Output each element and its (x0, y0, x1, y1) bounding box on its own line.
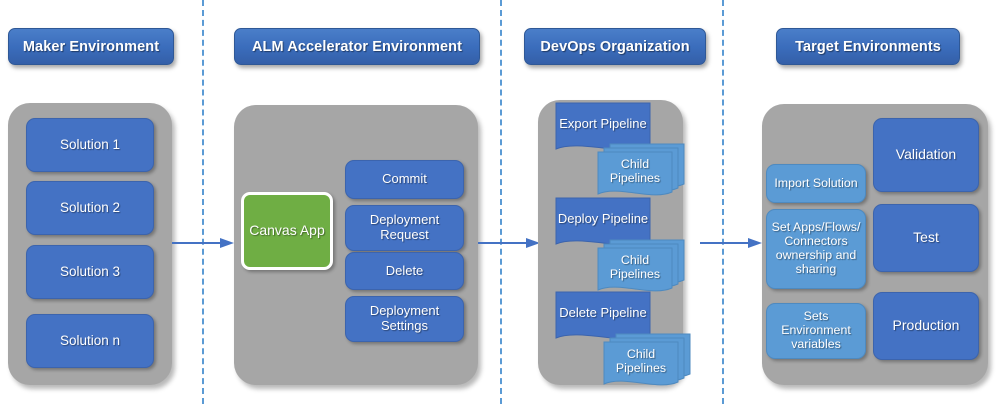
node-solution-3[interactable]: Solution 3 (26, 245, 154, 299)
column-divider-2 (500, 0, 502, 404)
node-import-solution[interactable]: Import Solution (766, 164, 866, 203)
node-canvas-app[interactable]: Canvas App (241, 192, 333, 270)
node-child-pipelines-export[interactable]: Child Pipelines (598, 144, 684, 192)
node-validation-label: Validation (896, 147, 956, 163)
node-deployment-request[interactable]: Deployment Request (345, 205, 464, 251)
node-validation[interactable]: Validation (873, 118, 979, 192)
node-solution-3-label: Solution 3 (60, 264, 120, 279)
node-solution-2-label: Solution 2 (60, 200, 120, 215)
header-alm-accelerator-environment[interactable]: ALM Accelerator Environment (234, 28, 480, 65)
node-import-solution-label: Import Solution (774, 177, 857, 191)
column-divider-1 (202, 0, 204, 404)
node-production[interactable]: Production (873, 292, 979, 360)
node-solution-n[interactable]: Solution n (26, 314, 154, 368)
header-devops-organization[interactable]: DevOps Organization (524, 28, 706, 65)
node-delete-label: Delete (386, 264, 424, 279)
column-divider-3 (722, 0, 724, 404)
header-alm-accelerator-environment-label: ALM Accelerator Environment (252, 39, 462, 55)
node-deployment-settings[interactable]: Deployment Settings (345, 296, 464, 342)
header-target-environments-label: Target Environments (795, 39, 941, 55)
node-set-ownership[interactable]: Set Apps/Flows/ Connectors ownership and… (766, 209, 866, 289)
node-sets-environment-variables[interactable]: Sets Environment variables (766, 303, 866, 359)
node-solution-1-label: Solution 1 (60, 137, 120, 152)
node-solution-1[interactable]: Solution 1 (26, 118, 154, 172)
node-test-label: Test (913, 230, 939, 246)
node-sets-environment-variables-label: Sets Environment variables (770, 310, 862, 352)
node-deployment-settings-label: Deployment Settings (349, 304, 460, 333)
node-canvas-app-label: Canvas App (249, 223, 325, 239)
node-production-label: Production (893, 318, 960, 334)
connector-devops-to-target (700, 237, 762, 249)
node-test[interactable]: Test (873, 204, 979, 272)
header-devops-organization-label: DevOps Organization (540, 39, 689, 55)
header-maker-environment[interactable]: Maker Environment (8, 28, 174, 65)
connector-alm-to-devops (478, 237, 540, 249)
node-child-pipelines-deploy[interactable]: Child Pipelines (598, 240, 684, 288)
node-delete[interactable]: Delete (345, 252, 464, 290)
node-commit-label: Commit (382, 172, 427, 187)
diagram-canvas: Maker Environment ALM Accelerator Enviro… (0, 0, 996, 404)
connector-maker-to-alm (172, 237, 234, 249)
node-deployment-request-label: Deployment Request (349, 213, 460, 242)
node-solution-2[interactable]: Solution 2 (26, 181, 154, 235)
node-commit[interactable]: Commit (345, 160, 464, 199)
node-solution-n-label: Solution n (60, 333, 120, 348)
node-child-pipelines-delete[interactable]: Child Pipelines (604, 334, 690, 382)
header-target-environments[interactable]: Target Environments (776, 28, 960, 65)
node-set-ownership-label: Set Apps/Flows/ Connectors ownership and… (770, 221, 862, 277)
header-maker-environment-label: Maker Environment (23, 39, 159, 55)
